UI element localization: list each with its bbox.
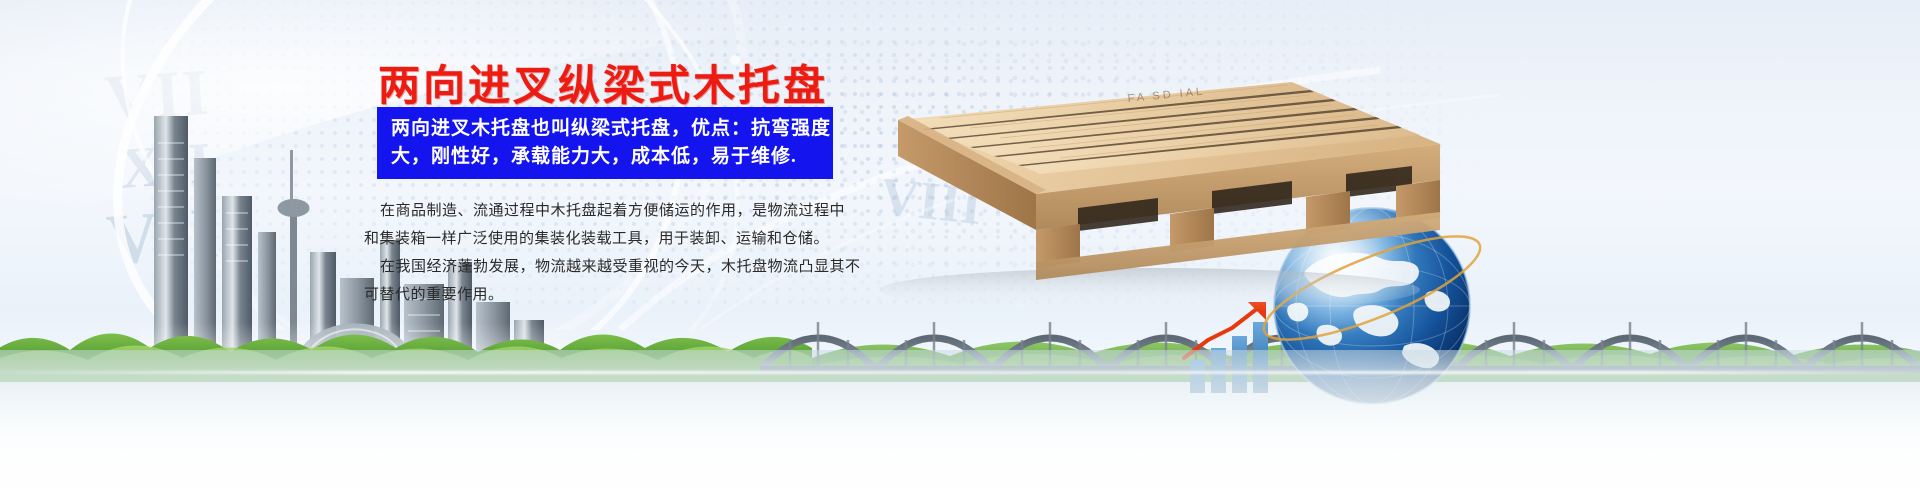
body-paragraph-line-2: 和集装箱一样广泛使用的集装化装载工具，用于装卸、运输和仓储。 [364, 225, 864, 253]
roman-numeral-xii: XII [118, 125, 249, 204]
body-paragraph-line-4: 可替代的重要作用。 [364, 281, 864, 309]
body-paragraph-line-3: 在我国经济蓬勃发展，物流越来越受重视的今天，木托盘物流凸显其不 [364, 253, 864, 281]
roman-numeral-vii: VII [103, 56, 244, 135]
roman-numeral-viii: VIII [105, 195, 254, 275]
body-paragraph-line-1: 在商品制造、流通过程中木托盘起着方便储运的作用，是物流过程中 [364, 197, 864, 225]
roman-numerals-left-decor: VII XII VIII [103, 56, 253, 275]
highlight-line-1: 两向进叉木托盘也叫纵梁式托盘，优点：抗弯强度 [391, 115, 821, 143]
page-title: 两向进叉纵梁式木托盘 [378, 52, 828, 113]
product-banner: VII XII VIII VIII [0, 0, 1920, 500]
wooden-pallet-image: FA SD IAL [840, 58, 1460, 318]
water-reflection-decor [0, 350, 1920, 500]
highlight-line-2: 大，刚性好，承载能力大，成本低，易于维修. [391, 143, 821, 171]
body-copy: 在商品制造、流通过程中木托盘起着方便储运的作用，是物流过程中 和集装箱一样广泛使… [364, 197, 864, 309]
highlight-callout-box: 两向进叉木托盘也叫纵梁式托盘，优点：抗弯强度 大，刚性好，承载能力大，成本低，易… [377, 107, 833, 179]
waterline-highlight-decor [0, 371, 1920, 374]
